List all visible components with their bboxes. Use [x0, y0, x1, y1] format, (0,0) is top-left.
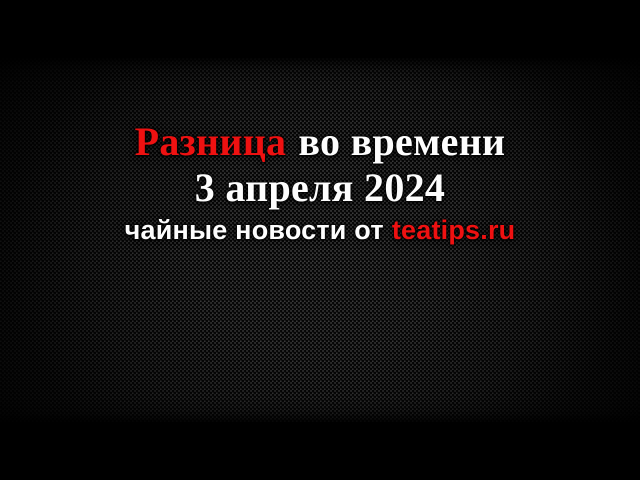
title-line-3: чайные новости отteatips.ru: [0, 217, 640, 244]
letterbox-bar-bottom: [0, 422, 640, 480]
letterbox-bar-top: [0, 0, 640, 58]
title-line-1-rest: во времени: [298, 119, 505, 164]
brand-name-label: teatips.ru: [392, 215, 516, 245]
title-card: Разницаво времени 3 апреля 2024 чайные н…: [0, 122, 640, 244]
title-line-2-date: 3 апреля 2024: [0, 168, 640, 208]
video-frame: Разницаво времени 3 апреля 2024 чайные н…: [0, 0, 640, 480]
source-prefix-label: чайные новости от: [125, 215, 384, 245]
title-highlight-word: Разница: [135, 119, 287, 164]
title-line-1: Разницаво времени: [0, 122, 640, 162]
